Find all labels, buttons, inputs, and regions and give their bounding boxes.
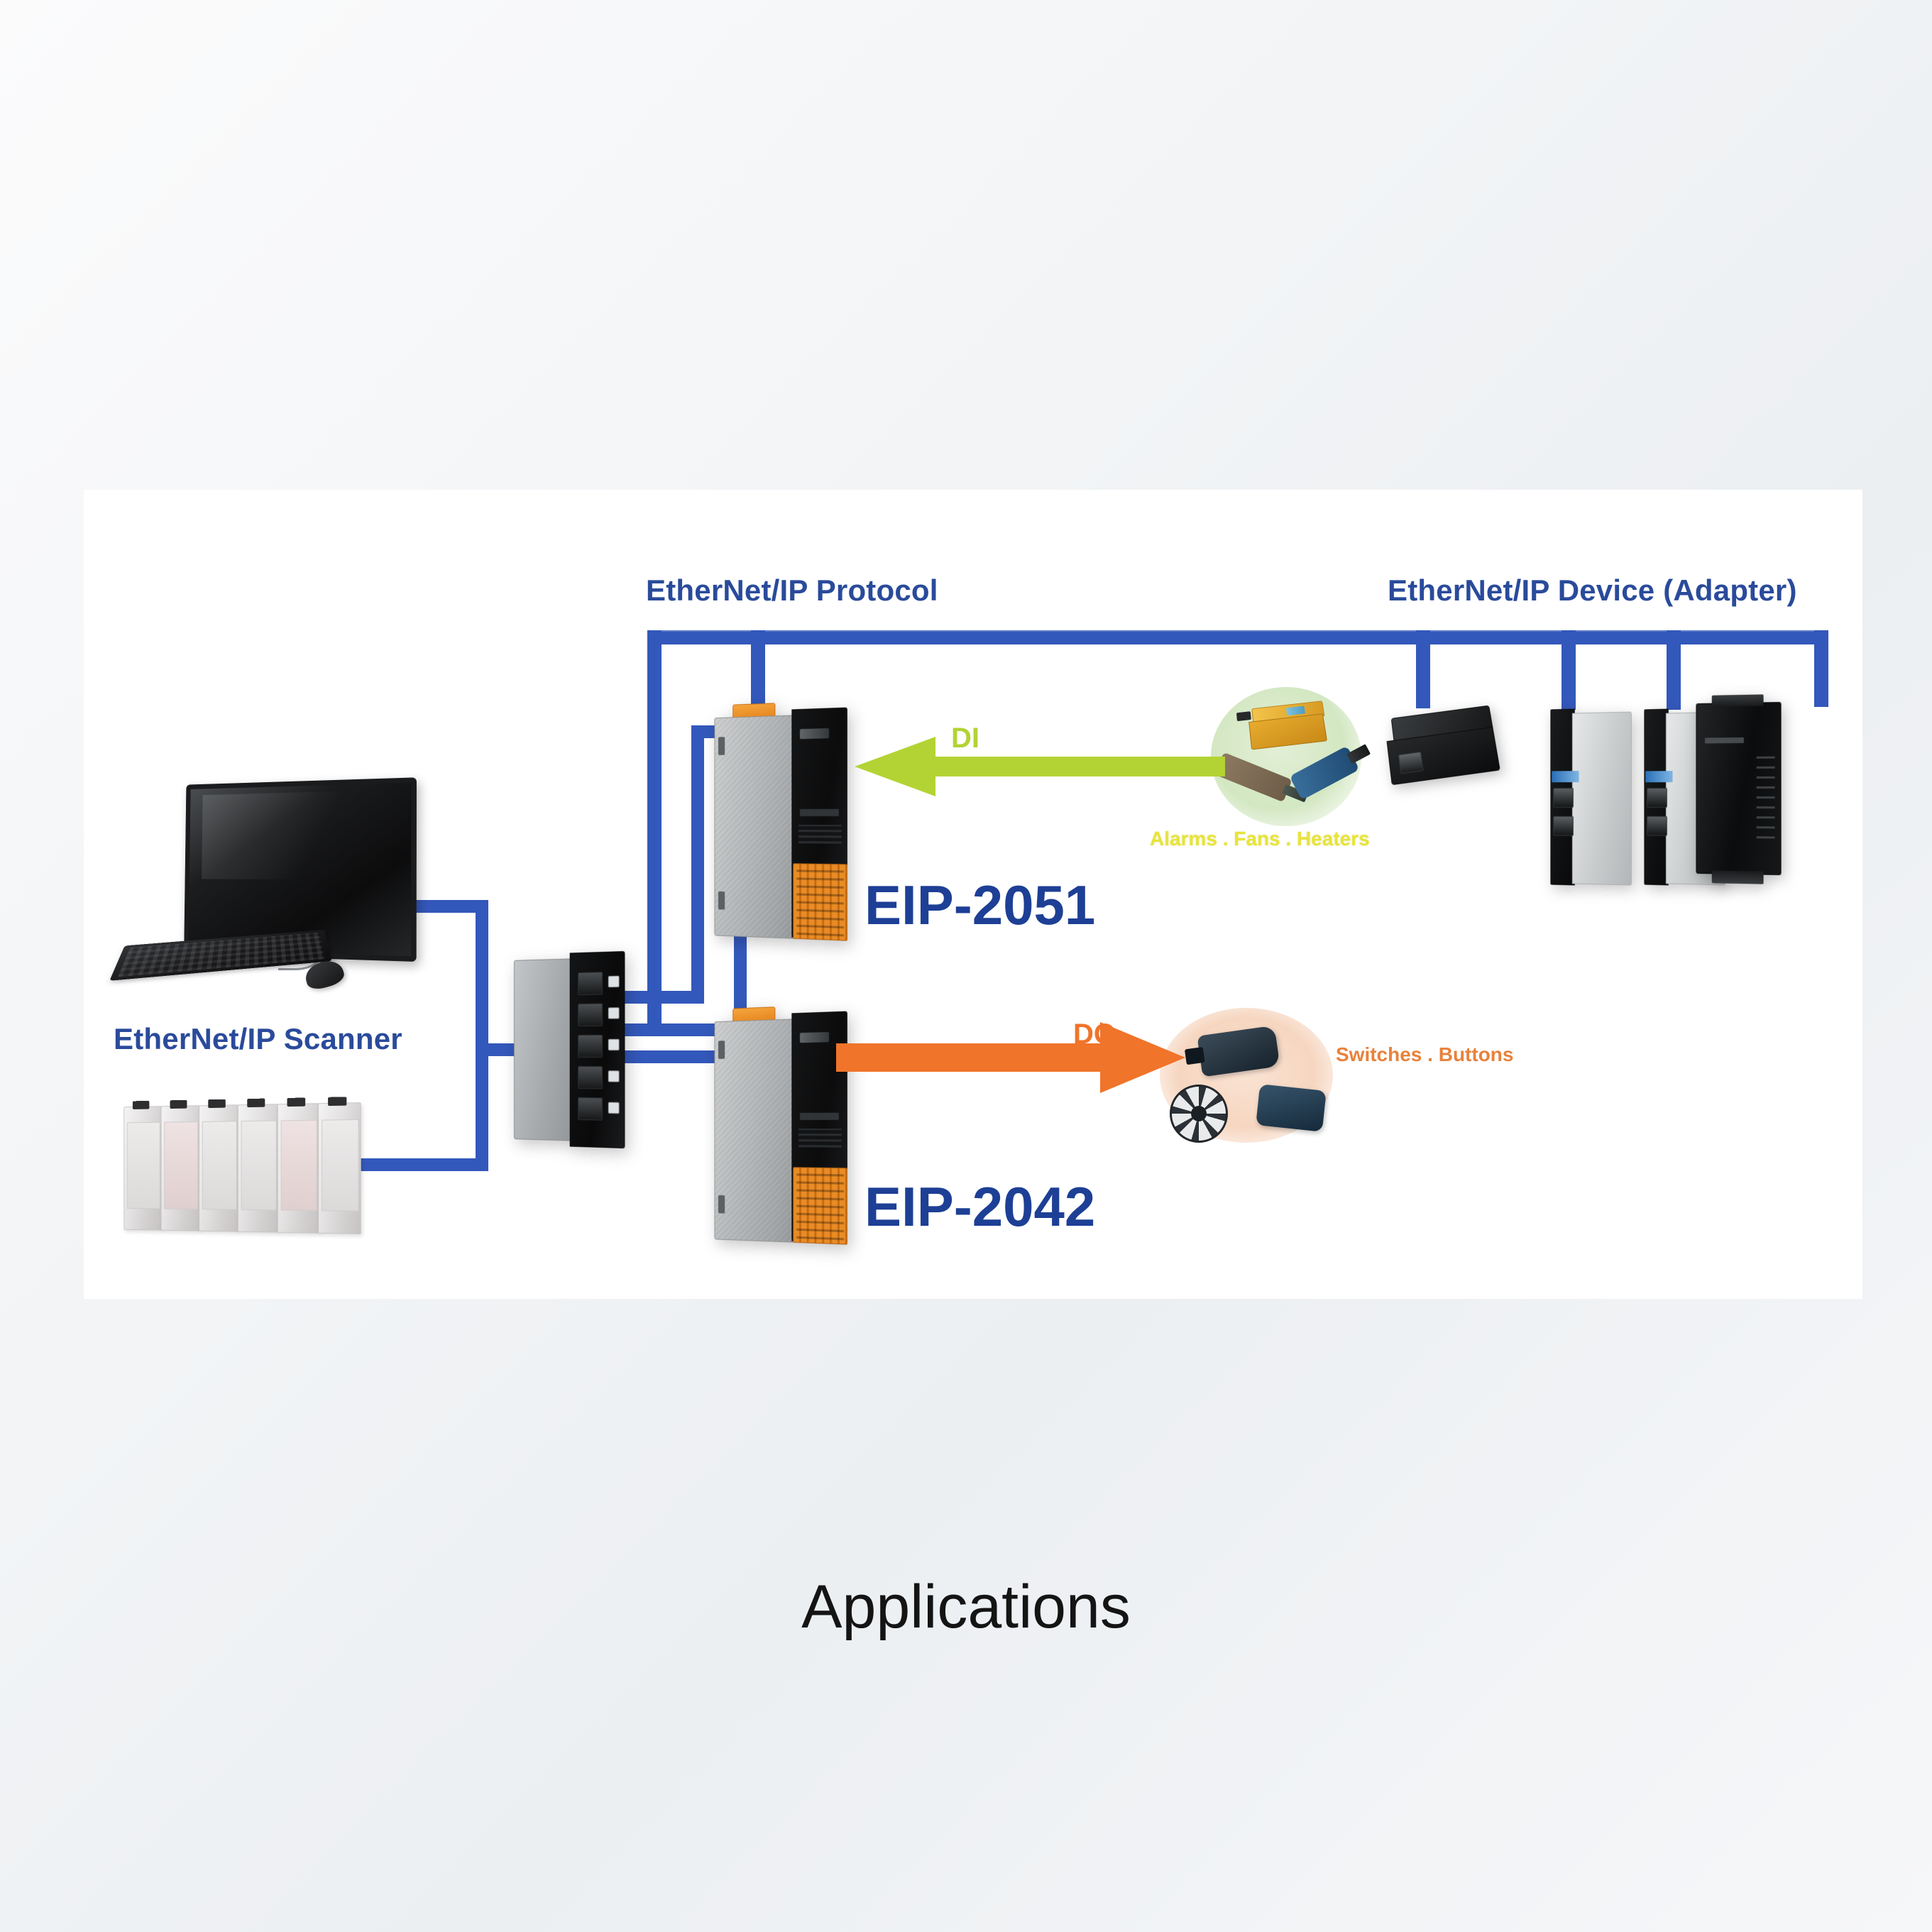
wire-pc-riser [476, 900, 488, 1059]
wire-top-bus [647, 630, 1827, 644]
label-ethernetip-protocol: EtherNet/IP Protocol [646, 573, 938, 608]
label-eip-2051: EIP-2051 [865, 873, 1095, 938]
do-arrow-icon [836, 1015, 1191, 1100]
eip-2042-module [714, 1004, 850, 1244]
slim-adapter-1 [1550, 708, 1632, 886]
plc-rack [124, 1096, 389, 1241]
wire-tall-drop [1814, 630, 1828, 707]
wire-plc-riser [476, 1043, 488, 1171]
page-caption: Applications [0, 1572, 1932, 1642]
wire-switch-out-1-riser [691, 725, 704, 1004]
application-diagram-page: EtherNet/IP Protocol EtherNet/IP Device … [0, 0, 1932, 1932]
ethernet-switch [514, 950, 650, 1148]
label-eip-2042: EIP-2042 [865, 1175, 1095, 1239]
tall-adapter [1696, 702, 1781, 875]
label-ethernetip-device-adapter: EtherNet/IP Device (Adapter) [1388, 573, 1797, 608]
label-ethernetip-scanner: EtherNet/IP Scanner [114, 1022, 402, 1056]
motor-secondary-icon [1256, 1084, 1327, 1132]
wire-converter-drop [1416, 630, 1430, 708]
label-switches-buttons: Switches . Buttons [1336, 1043, 1513, 1066]
label-do: DO [1073, 1019, 1116, 1050]
eip-2051-module [714, 700, 850, 940]
label-alarms-fans-heaters: Alarms . Fans . Heaters [1150, 828, 1370, 850]
di-arrow-icon [842, 724, 1225, 809]
wire-slim2-drop [1667, 630, 1681, 710]
label-di: DI [951, 723, 979, 754]
wire-slim1-drop [1561, 630, 1576, 710]
